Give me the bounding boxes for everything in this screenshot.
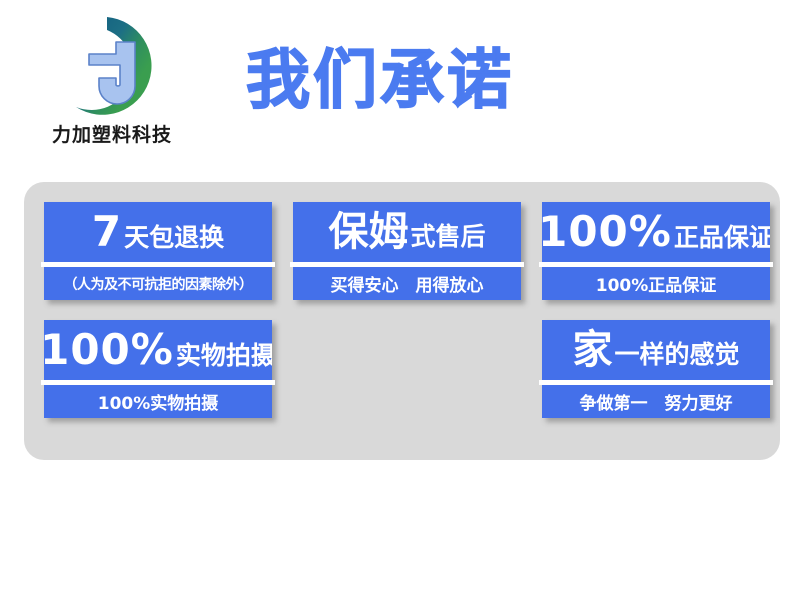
card-headline-secondary: 正品保证 [672,225,770,250]
promise-card-authentic-guarantee[interactable]: 100% 正品保证 100%正品保证 [542,202,770,300]
card-headline-area: 家 一样的感觉 [542,320,770,380]
card-headline: 保姆 式售后 [328,212,485,252]
card-subtitle-area: 100%实物拍摄 [44,385,272,418]
card-subtitle-area: 100%正品保证 [542,267,770,300]
card-subtitle: 100%正品保证 [596,271,717,296]
card-headline-primary: 保姆 [328,212,408,252]
promise-card-real-photos[interactable]: 100% 实物拍摄 100%实物拍摄 [44,320,272,418]
promise-card-nanny-after-sales[interactable]: 保姆 式售后 买得安心 用得放心 [293,202,521,300]
page-title: 我们承诺 [246,46,514,116]
card-headline-primary: 100% [542,211,672,253]
card-subtitle-area: （人为及不可抗拒的因素除外） [44,267,272,300]
company-name-label: 力加塑料科技 [22,120,202,147]
card-headline: 100% 正品保证 [542,211,770,253]
card-headline: 家 一样的感觉 [572,330,739,370]
card-subtitle-area: 争做第一 努力更好 [542,385,770,418]
card-subtitle: 争做第一 努力更好 [580,389,733,414]
card-headline-area: 7 天包退换 [44,202,272,262]
card-headline-primary: 家 [572,330,612,370]
card-headline: 7 天包退换 [92,211,224,253]
card-headline-primary: 7 [92,211,122,253]
card-headline-area: 保姆 式售后 [293,202,521,262]
promise-card-7-day-return[interactable]: 7 天包退换 （人为及不可抗拒的因素除外） [44,202,272,300]
card-headline-secondary: 天包退换 [122,225,224,250]
promise-card-grid: 7 天包退换 （人为及不可抗拒的因素除外） 保姆 式售后 买得安心 用得放心 [44,202,770,428]
card-headline-secondary: 一样的感觉 [612,342,739,367]
promise-banner-page: 力加塑料科技 我们承诺 7 天包退换 （人为及不可抗拒的因素除外） 保姆 [0,0,800,600]
card-headline-secondary: 实物拍摄 [174,343,272,368]
company-swoosh-j-logo-icon [52,14,172,124]
card-headline-primary: 100% [44,329,174,371]
card-headline: 100% 实物拍摄 [44,329,272,371]
banner-header: 力加塑料科技 我们承诺 [0,0,800,170]
card-headline-secondary: 式售后 [408,224,485,249]
card-subtitle: 100%实物拍摄 [98,389,219,414]
card-subtitle-area: 买得安心 用得放心 [293,267,521,300]
card-subtitle: 买得安心 用得放心 [331,271,484,296]
card-subtitle: （人为及不可抗拒的因素除外） [64,274,253,294]
card-headline-area: 100% 实物拍摄 [44,320,272,380]
company-logo: 力加塑料科技 [22,14,202,159]
promise-card-home-feeling[interactable]: 家 一样的感觉 争做第一 努力更好 [542,320,770,418]
card-headline-area: 100% 正品保证 [542,202,770,262]
